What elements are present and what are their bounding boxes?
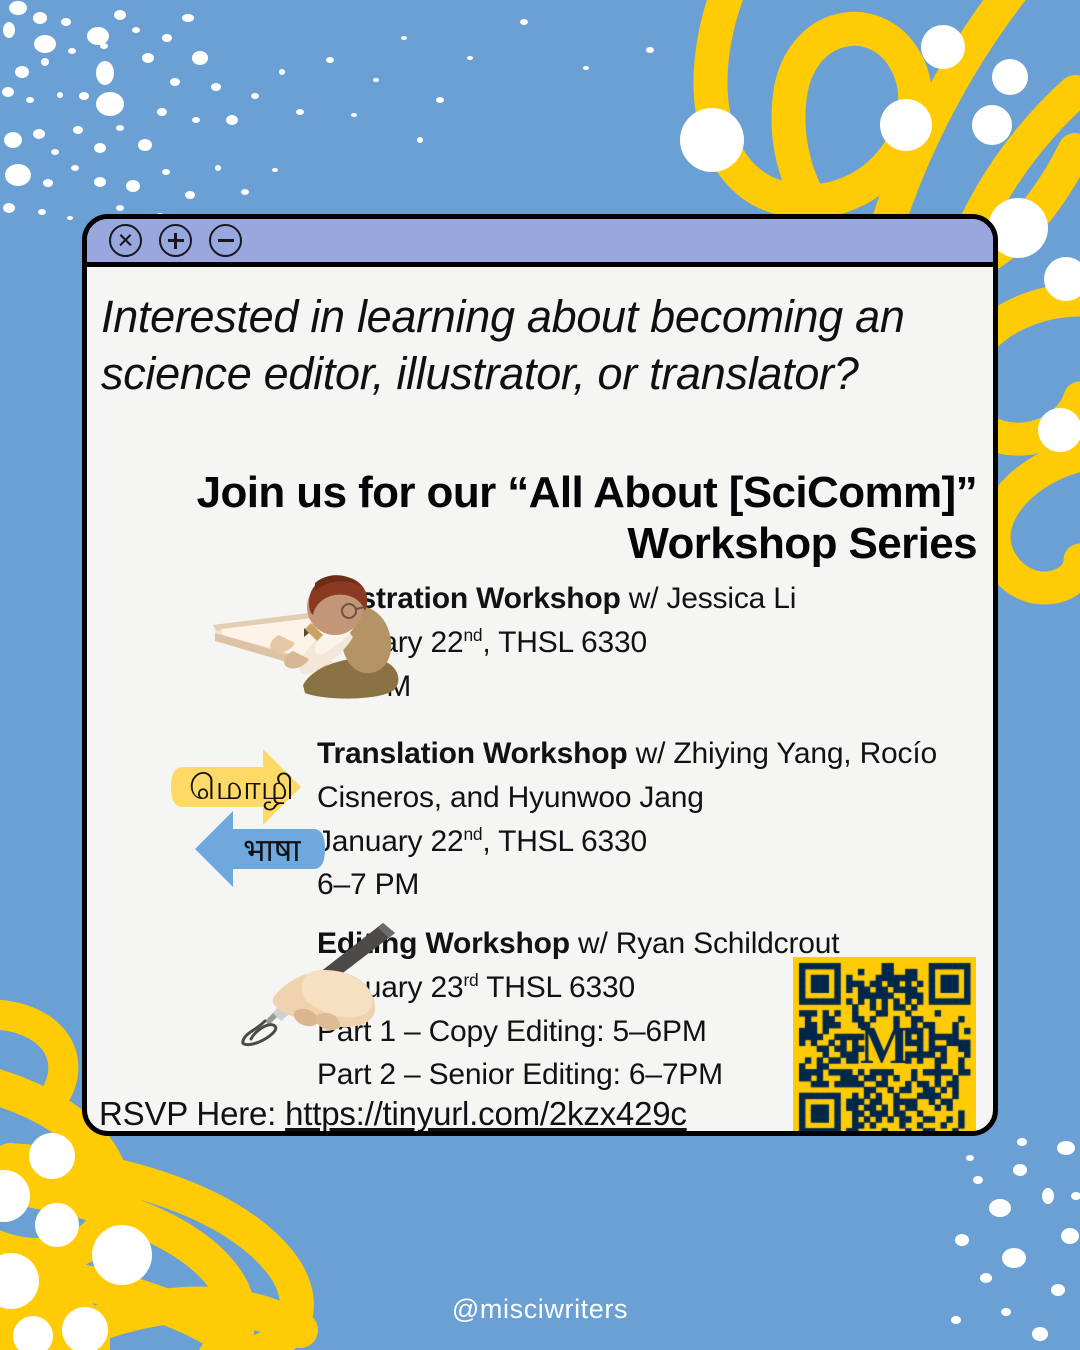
maximize-icon[interactable] [159,224,192,257]
workshop-item-translation: Translation Workshop w/ Zhiying Yang, Ro… [317,732,993,907]
hand-writing-pen-icon [217,915,412,1047]
card-body: Interested in learning about becoming an… [87,267,993,1131]
page-title: Join us for our “All About [SciComm]” Wo… [157,467,977,570]
date-suffix: , THSL 6330 [482,626,647,659]
arrow-label-tamil: மொழி [189,769,294,810]
tagline: Interested in learning about becoming an… [101,289,961,402]
close-icon[interactable] [109,224,142,257]
michigan-qr-code[interactable] [793,957,976,1136]
two-arrows-translation-icon: மொழி भाषा [85,739,325,895]
workshop-details: Translation Workshop w/ Zhiying Yang, Ro… [317,732,993,907]
workshop-date: January 22nd, THSL 6330 [317,820,993,864]
date-suffix: THSL 6330 [479,971,635,1004]
qr-canvas [793,957,976,1136]
workshop-presenters: w/ Ryan Schildcrout [570,927,839,960]
date-prefix: January 22 [317,825,463,858]
workshop-title: Translation Workshop [317,737,628,770]
window-title-bar [87,219,993,267]
arrow-label-hindi: भाषा [243,832,301,868]
workshop-heading: Translation Workshop w/ Zhiying Yang, Ro… [317,732,993,820]
workshop-presenters: w/ Jessica Li [621,582,797,615]
rsvp-link[interactable]: https://tinyurl.com/2kzx429c [285,1095,687,1132]
date-ordinal: nd [463,824,482,844]
browser-window-card: Interested in learning about becoming an… [82,214,998,1136]
minimize-icon[interactable] [209,224,242,257]
date-suffix: , THSL 6330 [482,825,647,858]
rsvp-line: RSVP Here: https://tinyurl.com/2kzx429c [99,1095,687,1133]
workshop-part-2: Part 2 – Senior Editing: 6–7PM [317,1053,839,1097]
person-drawing-illustration-icon [205,567,410,707]
workshop-time: 6–7 PM [317,863,993,907]
social-handle: @misciwriters [0,1294,1080,1325]
date-ordinal: nd [463,625,482,645]
rsvp-label: RSVP Here: [99,1095,285,1132]
title-line-2: Workshop Series [627,519,977,568]
date-ordinal: rd [463,970,478,990]
title-line-1: Join us for our “All About [SciComm]” [197,468,977,517]
poster-canvas: Interested in learning about becoming an… [0,0,1080,1350]
